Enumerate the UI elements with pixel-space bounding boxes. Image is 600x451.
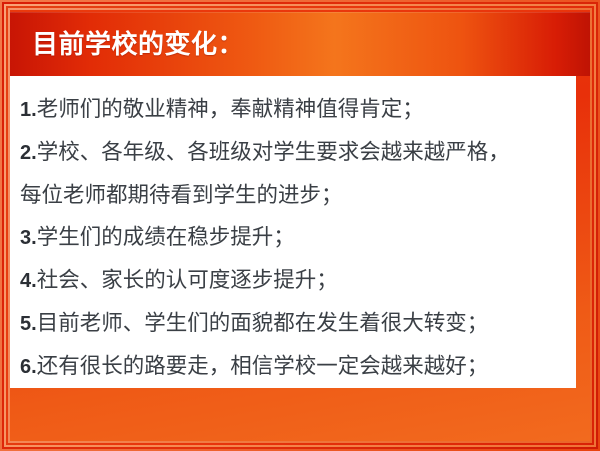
list-item-text: 社会、家长的认可度逐步提升； <box>37 268 338 292</box>
list-item-number: 6. <box>20 356 37 378</box>
list-item: 2.学校、各年级、各班级对学生要求会越来越严格， <box>20 131 570 174</box>
list-item: 4.社会、家长的认可度逐步提升； <box>20 259 570 302</box>
list-item-number: 4. <box>20 270 37 292</box>
list-item: 6.还有很长的路要走，相信学校一定会越来越好； <box>20 345 570 388</box>
list-item-continuation: 每位老师都期待看到学生的进步； <box>20 174 570 216</box>
bullet-list: 1.老师们的敬业精神，奉献精神值得肯定； 2.学校、各年级、各班级对学生要求会越… <box>20 88 570 388</box>
list-item: 3.学生们的成绩在稳步提升； <box>20 216 570 259</box>
content-panel: 1.老师们的敬业精神，奉献精神值得肯定； 2.学校、各年级、各班级对学生要求会越… <box>10 76 576 388</box>
slide-canvas: 目前学校的变化： 1.老师们的敬业精神，奉献精神值得肯定； 2.学校、各年级、各… <box>0 0 600 451</box>
list-item-text: 学校、各年级、各班级对学生要求会越来越严格， <box>37 140 510 164</box>
list-item-text: 目前老师、学生们的面貌都在发生着很大转变； <box>37 311 489 335</box>
title-bar: 目前学校的变化： <box>10 12 590 76</box>
list-item-text: 学生们的成绩在稳步提升； <box>37 225 295 249</box>
list-item: 5.目前老师、学生们的面貌都在发生着很大转变； <box>20 302 570 345</box>
list-item-number: 3. <box>20 227 37 249</box>
list-item-text: 还有很长的路要走，相信学校一定会越来越好； <box>37 354 489 378</box>
list-item-number: 1. <box>20 99 37 121</box>
slide-title: 目前学校的变化： <box>32 29 244 59</box>
list-item-number: 2. <box>20 142 37 164</box>
list-item: 1.老师们的敬业精神，奉献精神值得肯定； <box>20 88 570 131</box>
list-item-text: 老师们的敬业精神，奉献精神值得肯定； <box>37 97 424 121</box>
list-item-number: 5. <box>20 313 37 335</box>
